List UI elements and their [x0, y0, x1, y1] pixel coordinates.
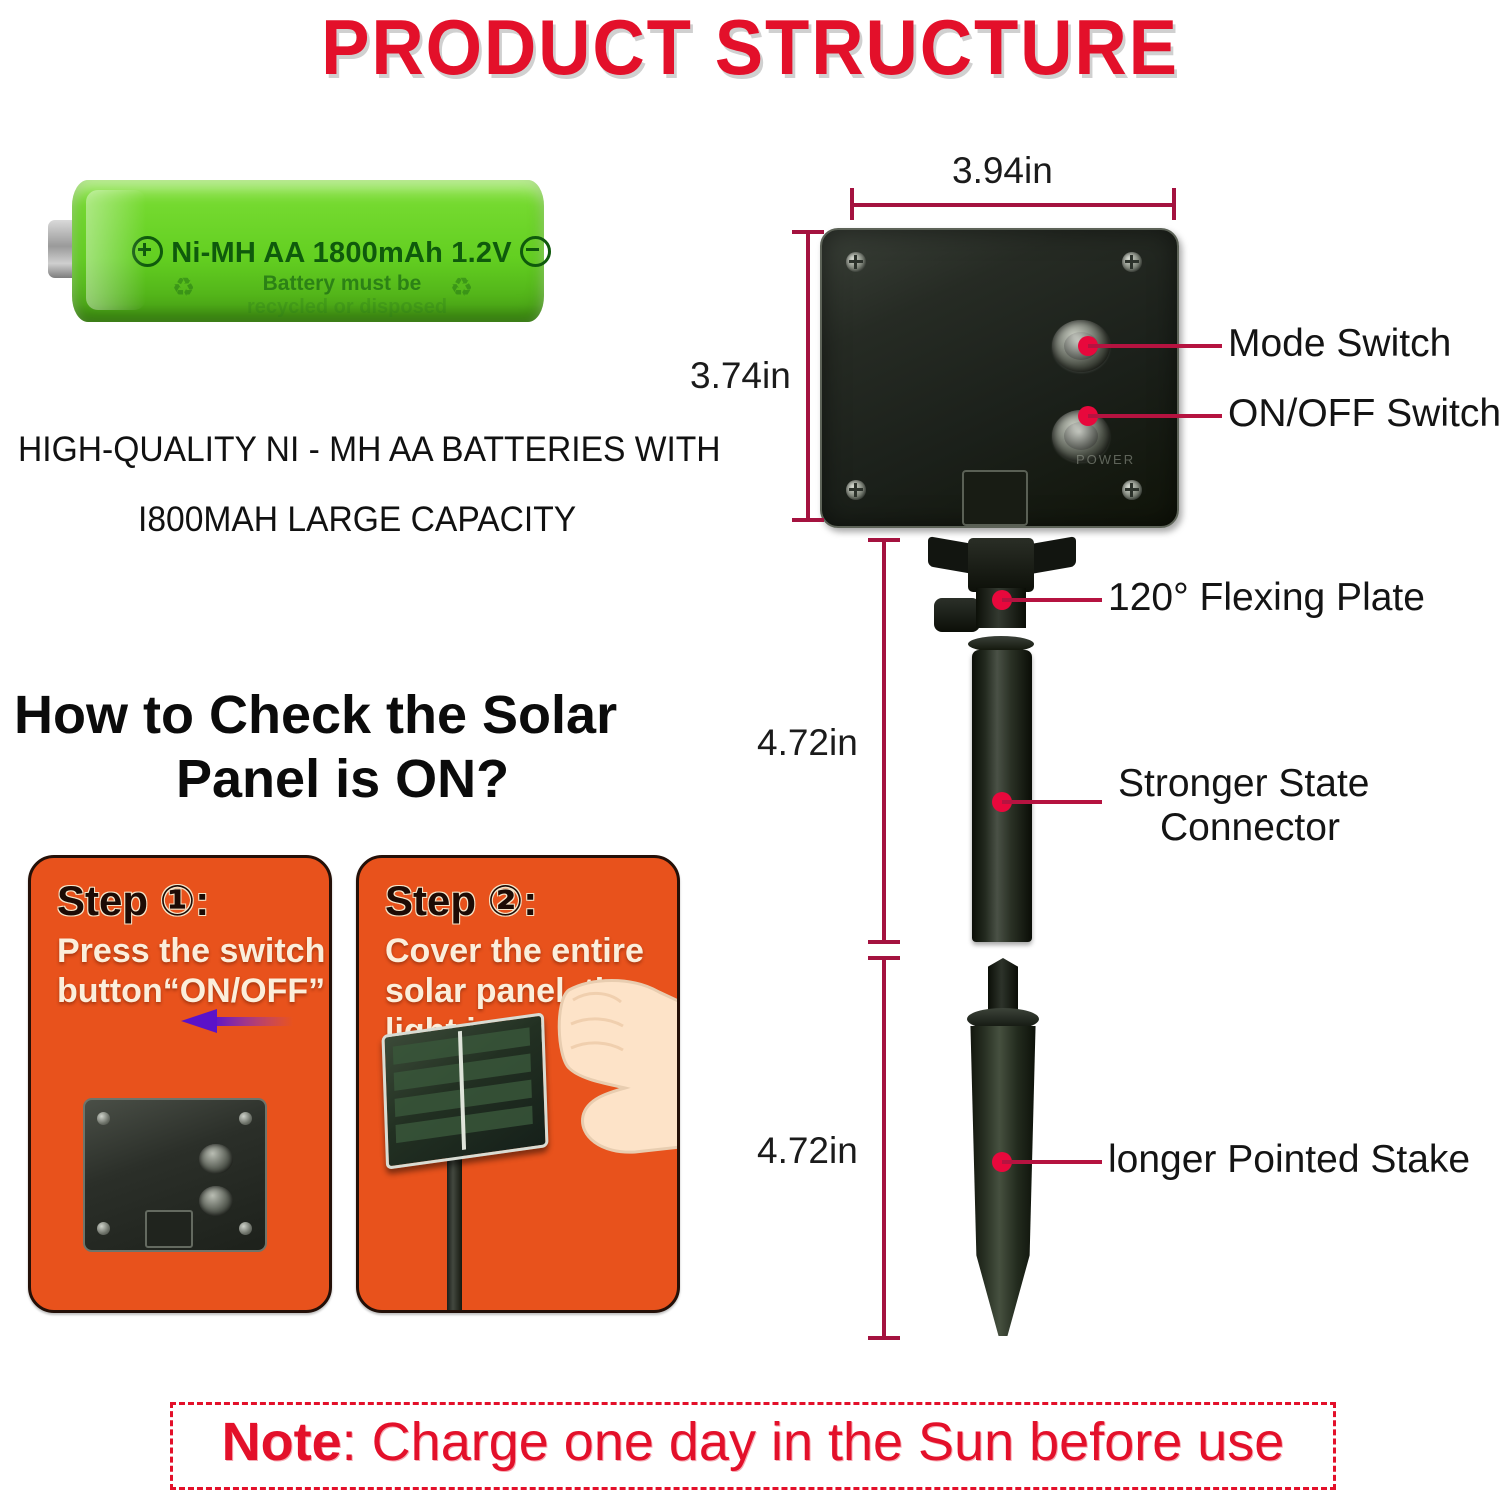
battery-caption-line2: I800MAH LARGE CAPACITY	[138, 500, 576, 540]
mini-screw-tl	[97, 1112, 110, 1125]
mini-screw-tr	[239, 1112, 252, 1125]
step-1-body: Press the switch button“ON/OFF”	[57, 932, 327, 1012]
pointed-stake-leader-line	[1002, 1160, 1102, 1164]
power-label: POWER	[1076, 452, 1135, 467]
flexing-plate-label: 120° Flexing Plate	[1108, 576, 1425, 620]
dimension-label-connector: 4.72in	[757, 722, 858, 764]
note-body: : Charge one day in the Sun before use	[342, 1412, 1285, 1472]
step-card-2: Step ②: Cover the entire solar panel, th…	[356, 855, 680, 1313]
mode-switch-label: Mode Switch	[1228, 322, 1451, 366]
onoff-switch-leader-line	[1088, 414, 1222, 418]
step-1-body-line2: button“ON/OFF”	[57, 972, 325, 1010]
battery-caption-line1: HIGH-QUALITY NI - MH AA BATTERIES WITH	[18, 430, 721, 470]
dimension-cap-height-bottom	[792, 518, 824, 522]
dimension-cap-connector-top	[868, 538, 900, 542]
howto-heading-line1: How to Check the Solar	[14, 684, 617, 746]
dimension-cap-connector-bottom	[868, 940, 900, 944]
dimension-line-stake	[882, 958, 886, 1340]
dimension-cap-width-right	[1172, 188, 1176, 220]
step-2-heading: Step ②:	[385, 876, 537, 925]
panel-screw-bl	[846, 480, 866, 500]
state-connector-label-line2: Connector	[1160, 806, 1340, 850]
dimension-label-panel-width: 3.94in	[952, 150, 1053, 192]
solar-panel-back-icon	[83, 1098, 267, 1252]
solar-panel-icon	[381, 1012, 548, 1169]
note-prefix: Note	[222, 1412, 342, 1472]
battery-spec-label: Ni-MH AA 1800mAh 1.2V	[171, 237, 511, 269]
note-text: Note: Charge one day in the Sun before u…	[173, 1411, 1333, 1473]
mini-screw-br	[239, 1222, 252, 1235]
mode-switch-leader-line	[1088, 344, 1222, 348]
hand-icon	[539, 976, 680, 1176]
pointed-stake-blade	[966, 1026, 1040, 1336]
flexing-plate-leader-line	[1002, 598, 1102, 602]
step-2-body-line1: Cover the entire	[385, 932, 644, 970]
battery-body: Ni-MH AA 1800mAh 1.2V Battery must be re…	[72, 180, 544, 322]
mini-mode-button	[199, 1144, 233, 1174]
state-connector-label-line1: Stronger State	[1118, 762, 1369, 806]
dimension-cap-width-left	[850, 188, 854, 220]
flexing-plate-core	[968, 538, 1034, 592]
step-1-heading: Step ①:	[57, 876, 209, 925]
mini-screw-bl	[97, 1222, 110, 1235]
dimension-cap-stake-bottom	[868, 1336, 900, 1340]
purple-arrow-icon	[181, 1008, 293, 1034]
battery-disposal-line1: Battery must be	[192, 272, 492, 296]
mini-onoff-button	[199, 1186, 233, 1216]
dimension-label-stake: 4.72in	[757, 1130, 858, 1172]
dimension-line-panel-height	[806, 230, 810, 522]
panel-screw-tr	[1122, 252, 1142, 272]
step-1-body-line1: Press the switch	[57, 932, 325, 970]
note-banner: Note: Charge one day in the Sun before u…	[170, 1402, 1336, 1490]
page-title: PRODUCT STRUCTURE	[53, 2, 1448, 93]
battery-illustration: Ni-MH AA 1800mAh 1.2V Battery must be re…	[44, 172, 544, 342]
plus-terminal-icon	[132, 236, 163, 267]
recycle-icon: ♻	[172, 272, 195, 303]
recycle-icon-2: ♻	[450, 272, 473, 303]
flexing-plate-knob	[934, 598, 980, 632]
panel-screw-tl	[846, 252, 866, 272]
panel-port	[962, 470, 1028, 526]
panel-screw-br	[1122, 480, 1142, 500]
state-connector-leader-line	[1002, 800, 1102, 804]
stake-top-nub	[988, 958, 1018, 1012]
step-card-1: Step ①: Press the switch button“ON/OFF”	[28, 855, 332, 1313]
solar-lamp-pole	[447, 1154, 462, 1313]
minus-terminal-icon	[520, 236, 551, 267]
dimension-cap-height-top	[792, 230, 824, 234]
dimension-line-connector	[882, 540, 886, 944]
dimension-label-panel-height: 3.74in	[690, 355, 791, 397]
pointed-stake-label: longer Pointed Stake	[1108, 1138, 1470, 1182]
howto-heading-line2: Panel is ON?	[176, 748, 509, 810]
dimension-cap-stake-top	[868, 956, 900, 960]
onoff-switch-label: ON/OFF Switch	[1228, 392, 1500, 436]
mini-port	[145, 1210, 193, 1248]
dimension-line-panel-width	[850, 203, 1176, 207]
battery-spec-text: Ni-MH AA 1800mAh 1.2V	[132, 236, 532, 270]
